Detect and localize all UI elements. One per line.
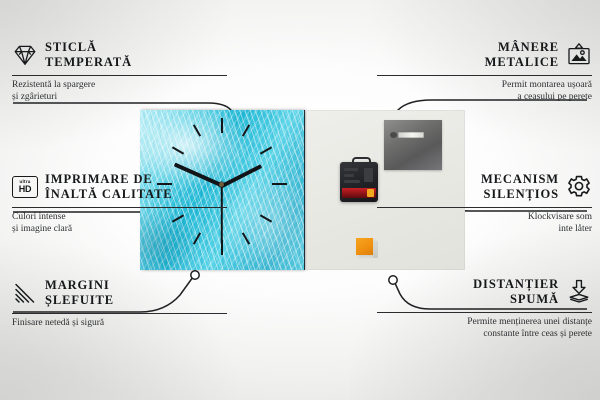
hanger-hole xyxy=(390,132,397,138)
callout-subtitle: Finisare netedă și sigură xyxy=(12,317,227,329)
callout-header: MECANISM SILENȚIOS xyxy=(377,172,592,203)
callout-header: MARGINI ȘLEFUITE xyxy=(12,278,227,309)
callout-subtitle: Permite menținerea unei distanțe constan… xyxy=(377,316,592,341)
mechanism-detail xyxy=(344,168,358,171)
mechanism-detail xyxy=(344,174,354,177)
callout-subtitle: Rezistentă la spargere și zgârieturi xyxy=(12,79,227,104)
mechanism-detail xyxy=(344,180,360,183)
callout-polished-edges: MARGINI ȘLEFUITE Finisare netedă și sigu… xyxy=(12,278,227,329)
callout-title: MECANISM SILENȚIOS xyxy=(481,172,559,203)
callout-metal-handles: MÂNERE METALICE Permit montarea ușoară a… xyxy=(377,40,592,103)
battery-terminal xyxy=(367,189,374,197)
clock-tick xyxy=(272,183,287,185)
clock-tick xyxy=(221,118,223,133)
quartz-mechanism xyxy=(340,162,378,202)
callout-rule xyxy=(377,312,592,313)
ultra-hd-icon: ultra HD xyxy=(12,174,38,200)
callout-title: MARGINI ȘLEFUITE xyxy=(45,278,114,309)
callout-high-quality-print: ultra HD IMPRIMARE DE ÎNALTĂ CALITATE Cu… xyxy=(12,172,227,235)
callout-header: ultra HD IMPRIMARE DE ÎNALTĂ CALITATE xyxy=(12,172,227,203)
callout-title: DISTANȚIER SPUMĂ xyxy=(473,277,559,308)
foam-spacer xyxy=(356,238,373,255)
callout-rule xyxy=(377,207,592,208)
callout-header: STICLĂ TEMPERATĂ xyxy=(12,40,227,71)
picture-frame-hanger-icon xyxy=(566,42,592,68)
callout-tempered-glass: STICLĂ TEMPERATĂ Rezistentă la spargere … xyxy=(12,40,227,103)
callout-rule xyxy=(12,207,227,208)
callout-header: DISTANȚIER SPUMĂ xyxy=(377,277,592,308)
mechanism-detail xyxy=(364,168,373,182)
foam-spacer-arrow-icon xyxy=(566,279,592,305)
hanger-slot xyxy=(398,132,424,138)
callout-title: MÂNERE METALICE xyxy=(485,40,559,71)
callout-silent-mechanism: MECANISM SILENȚIOS Klockvisare som inte … xyxy=(377,172,592,235)
mechanism-hanger-loop xyxy=(352,157,371,167)
callout-subtitle: Culori intense și imagine clară xyxy=(12,211,227,236)
callout-rule xyxy=(12,313,227,314)
callout-subtitle: Permit montarea ușoară a ceasului pe per… xyxy=(377,79,592,104)
ultra-hd-badge: ultra HD xyxy=(12,176,38,198)
callout-header: MÂNERE METALICE xyxy=(377,40,592,71)
metal-hanger xyxy=(384,120,442,170)
callout-title: IMPRIMARE DE ÎNALTĂ CALITATE xyxy=(45,172,173,203)
callout-foam-spacer: DISTANȚIER SPUMĂ Permite menținerea unei… xyxy=(377,277,592,340)
beveled-edge-icon xyxy=(12,280,38,306)
infographic-canvas: STICLĂ TEMPERATĂ Rezistentă la spargere … xyxy=(0,0,600,400)
diamond-icon xyxy=(12,42,38,68)
callout-subtitle: Klockvisare som inte låter xyxy=(377,211,592,236)
callout-title: STICLĂ TEMPERATĂ xyxy=(45,40,132,71)
callout-rule xyxy=(377,75,592,76)
battery xyxy=(342,188,376,198)
foam-spacer-shadow xyxy=(373,241,378,258)
gear-icon xyxy=(566,174,592,200)
callout-rule xyxy=(12,75,227,76)
